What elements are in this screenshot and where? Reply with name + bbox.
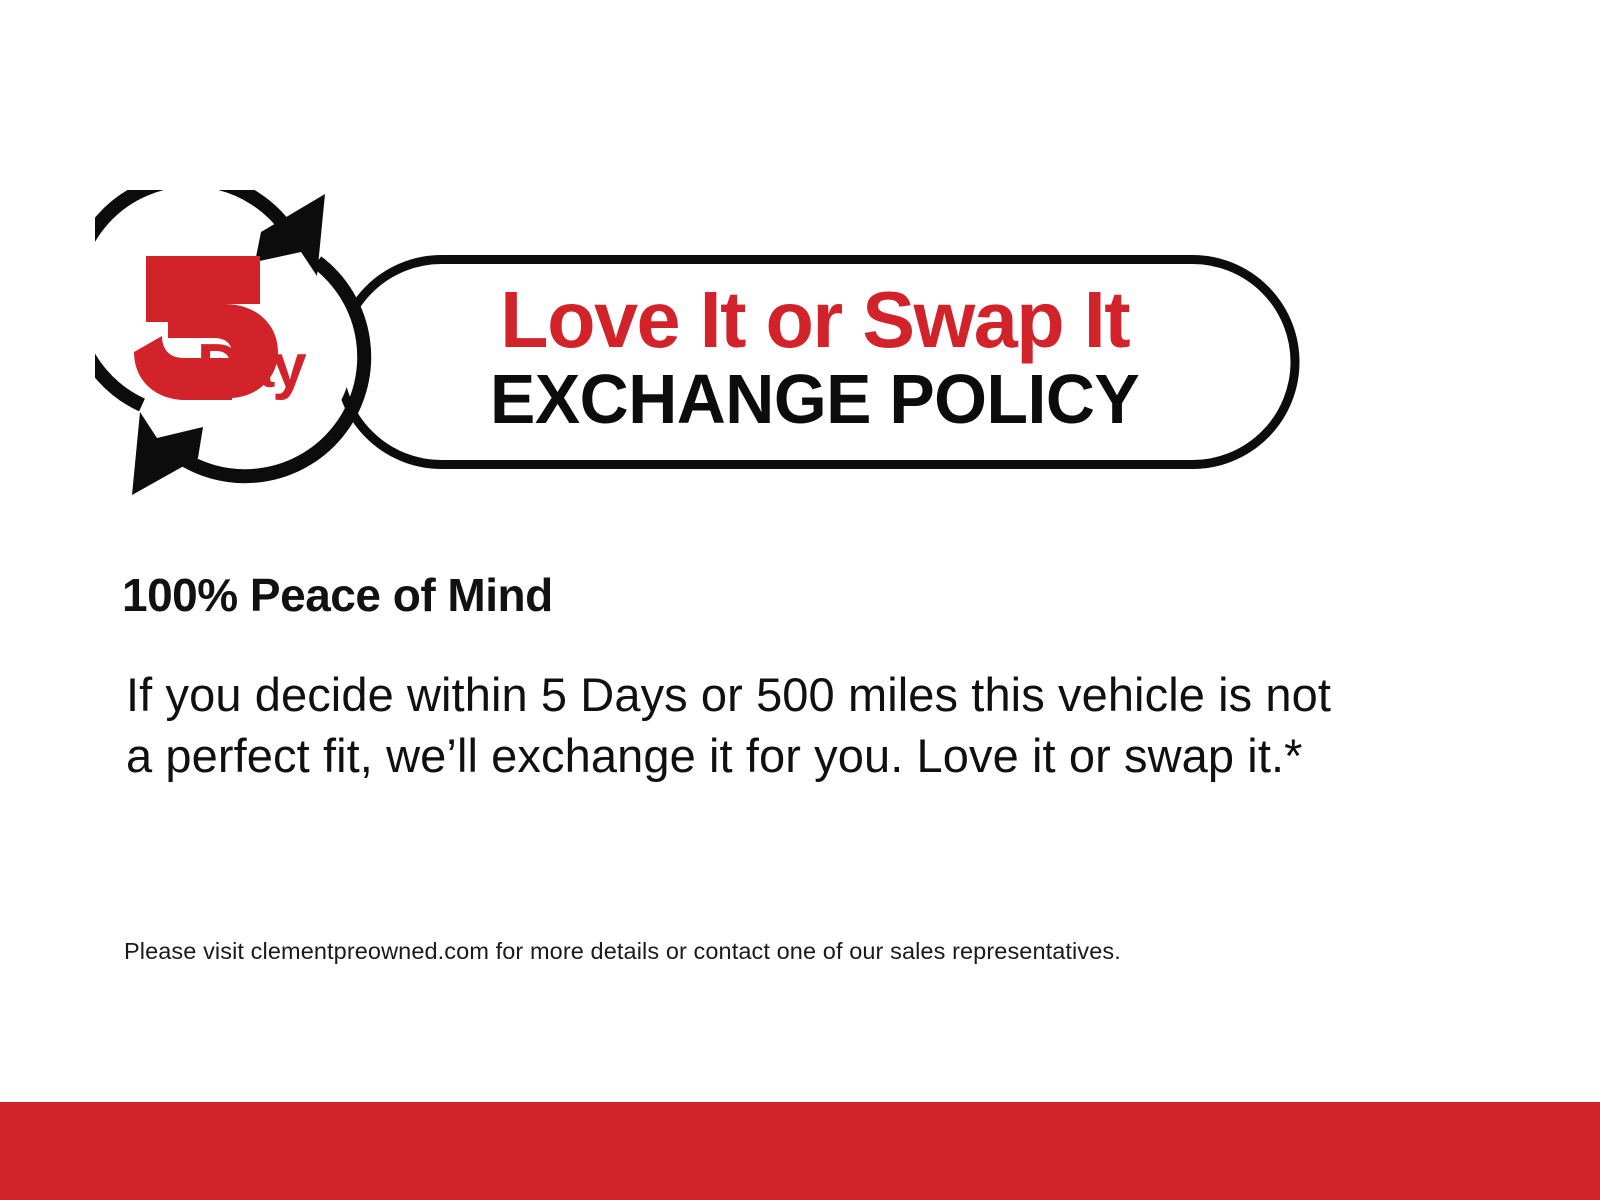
policy-description: If you decide within 5 Days or 500 miles…	[126, 664, 1346, 786]
fineprint-note: Please visit clementpreowned.com for mor…	[124, 936, 1121, 966]
policy-badge	[95, 190, 1305, 500]
headline: 100% Peace of Mind	[122, 568, 553, 622]
pill-outline	[339, 260, 1295, 465]
exchange-policy-card: Day Love It or Swap It EXCHANGE POLICY 1…	[0, 0, 1600, 1200]
footer-accent-band	[0, 1102, 1600, 1200]
